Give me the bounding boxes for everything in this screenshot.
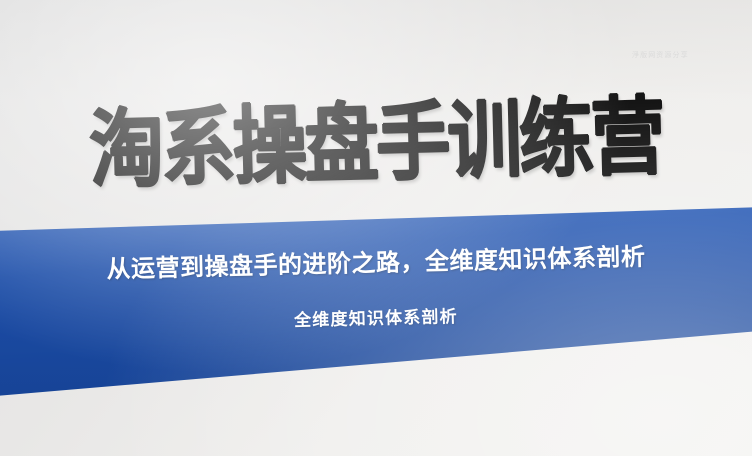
- poster-title: 淘系操盘手训练营: [88, 88, 663, 199]
- watermark-text: 淨版网资源分享: [632, 49, 712, 61]
- title-container: 淘系操盘手训练营: [0, 89, 752, 199]
- poster-canvas: 淨版网资源分享 淘系操盘手训练营 从运营到操盘手的进阶之路，全维度知识体系剖析 …: [0, 0, 752, 456]
